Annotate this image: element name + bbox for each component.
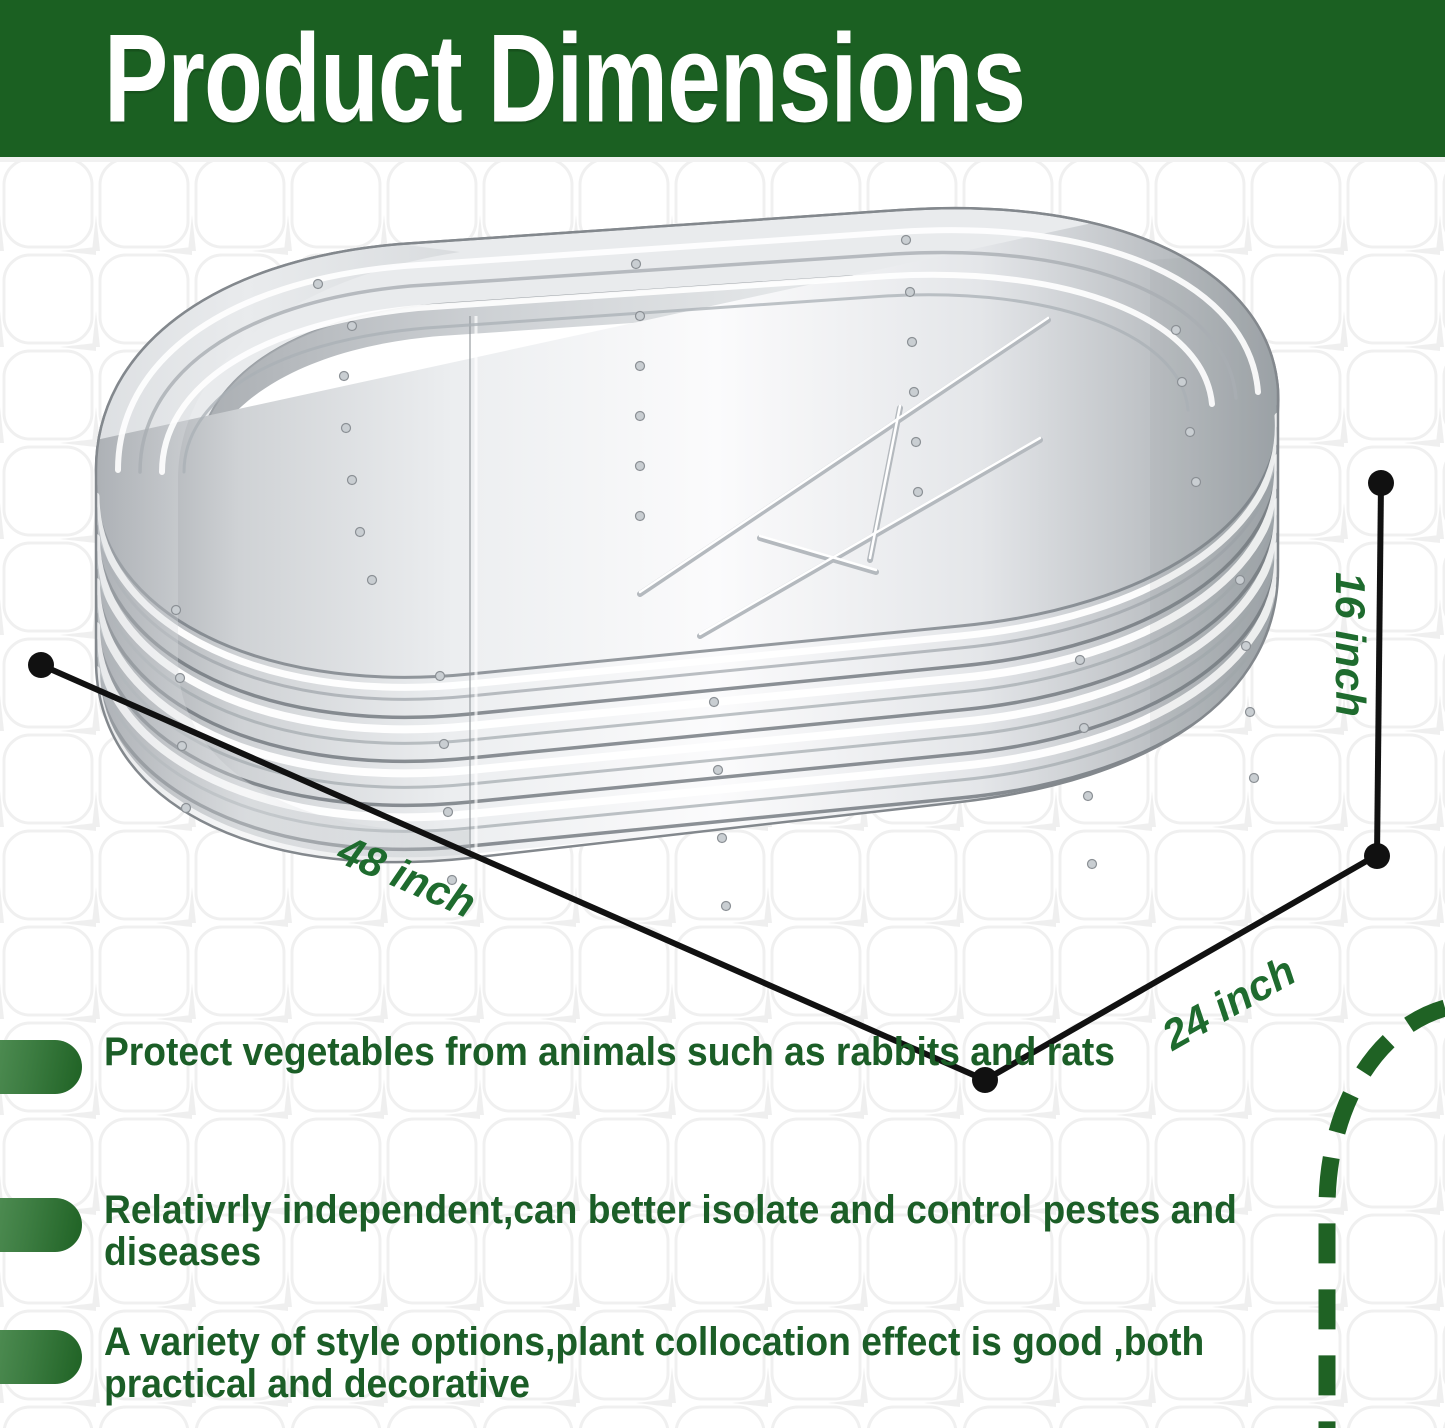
bullet-pill-icon [0, 1198, 82, 1252]
page-title: Product Dimensions [104, 16, 1025, 141]
header-banner: Product Dimensions [0, 0, 1445, 157]
feature-text-2: Relativrly independent,can better isolat… [104, 1190, 1309, 1273]
dimension-label-height: 16 inch [1326, 572, 1374, 717]
feature-text-3: A variety of style options,plant colloca… [104, 1322, 1309, 1405]
garden-bed-product-image [0, 140, 1445, 1100]
feature-item-3: A variety of style options,plant colloca… [0, 1322, 1400, 1405]
bullet-pill-icon [0, 1330, 82, 1384]
feature-list: Protect vegetables from animals such as … [0, 1022, 1445, 1428]
feature-item-2: Relativrly independent,can better isolat… [0, 1190, 1400, 1273]
bullet-pill-icon [0, 1040, 82, 1094]
header-divider [0, 157, 1445, 162]
feature-item-1: Protect vegetables from animals such as … [0, 1032, 1400, 1094]
product-dimensions-infographic: Product Dimensions [0, 0, 1445, 1428]
feature-text-1: Protect vegetables from animals such as … [104, 1032, 1309, 1074]
